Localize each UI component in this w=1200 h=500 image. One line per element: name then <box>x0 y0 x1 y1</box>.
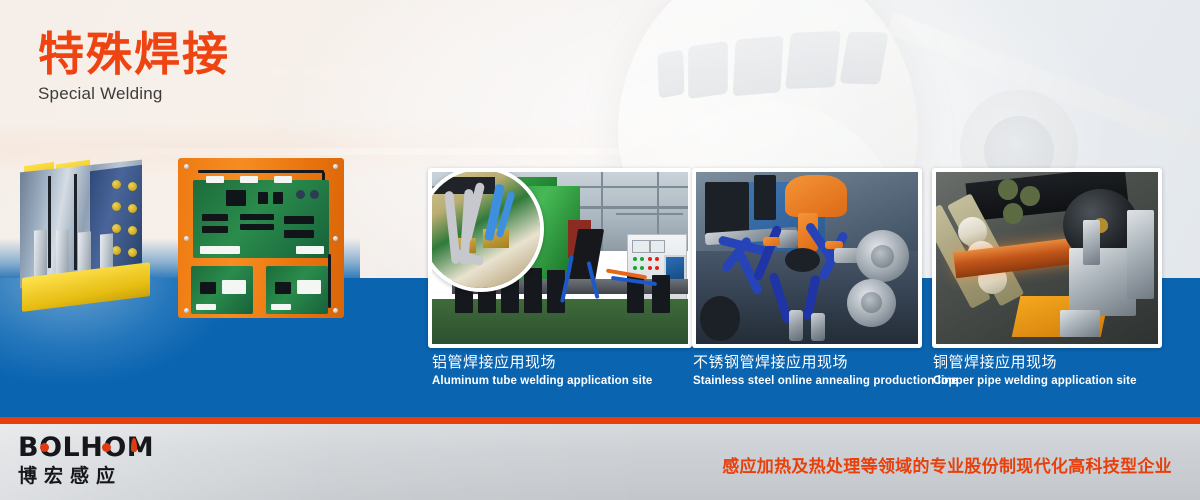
photo-aluminum-tube <box>432 172 688 344</box>
product-image-control-panel <box>178 158 344 324</box>
logo-flame-icon <box>131 438 137 452</box>
cockpit-window <box>733 36 784 97</box>
caption-chinese: 铜管焊接应用现场 <box>933 353 1137 371</box>
cockpit-window <box>688 41 728 99</box>
cockpit-window <box>657 50 684 99</box>
caption-chinese: 不锈钢管焊接应用现场 <box>693 353 958 371</box>
caption-aluminum-tube: 铝管焊接应用现场 Aluminum tube welding applicati… <box>432 353 652 388</box>
caption-copper-pipe: 铜管焊接应用现场 Copper pipe welding application… <box>933 353 1137 388</box>
logo-dot-icon <box>40 443 49 452</box>
photo-card-stainless-steel-tube[interactable] <box>692 168 922 348</box>
caption-stainless-steel-tube: 不锈钢管焊接应用现场 Stainless steel online anneal… <box>693 353 958 388</box>
product-image-transformer <box>8 158 168 316</box>
caption-english: Aluminum tube welding application site <box>432 374 652 388</box>
photo-card-aluminum-tube[interactable] <box>428 168 692 348</box>
contrail-lower <box>0 148 640 155</box>
logo-wordmark: BOLHOM <box>18 434 154 461</box>
caption-english: Copper pipe welding application site <box>933 374 1137 388</box>
logo-chinese-name: 博宏感应 <box>18 467 154 486</box>
cockpit-window <box>785 31 841 89</box>
photo-stainless-annealing <box>696 172 918 344</box>
company-slogan: 感应加热及热处理等领域的专业股份制现代化高科技型企业 <box>722 452 1172 477</box>
logo-dot-icon <box>102 443 111 452</box>
headline-chinese: 特殊焊接 <box>38 30 230 78</box>
photo-card-copper-pipe[interactable] <box>932 168 1162 348</box>
photo-inset-welding-head <box>432 172 544 292</box>
orange-divider-rule <box>0 417 1200 424</box>
welding-banner: 特殊焊接 Special Welding <box>0 0 1200 500</box>
caption-chinese: 铝管焊接应用现场 <box>432 353 652 371</box>
headline-block: 特殊焊接 Special Welding <box>38 30 230 104</box>
headline-english: Special Welding <box>38 84 230 104</box>
photo-copper-strip <box>936 172 1158 344</box>
company-logo[interactable]: BOLHOM 博宏感应 <box>18 434 154 486</box>
caption-english: Stainless steel online annealing product… <box>693 374 958 388</box>
